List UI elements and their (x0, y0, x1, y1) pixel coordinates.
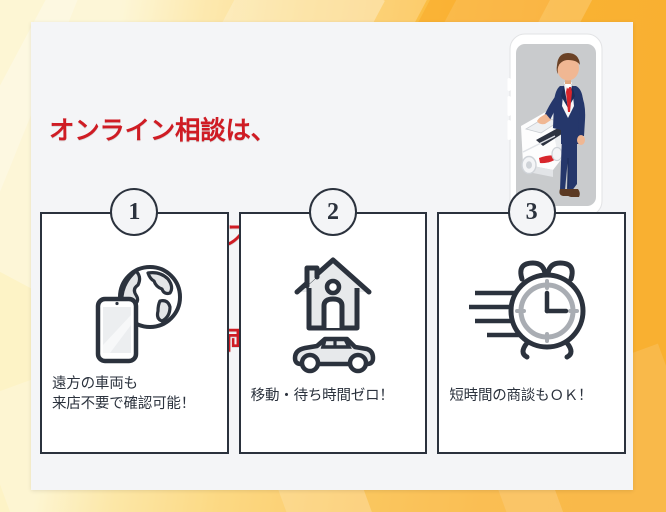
card-number-badge-2: 2 (309, 188, 357, 236)
house-car-icon (241, 250, 426, 370)
card-number-badge-1: 1 (110, 188, 158, 236)
feature-cards: 1 遠方の車両も 来店不要で確認可能！ (40, 212, 626, 454)
promo-banner: オンライン相談は、 経験知識豊富なスタッフが ビデオ通話で車両をご案内！ (0, 0, 666, 512)
feature-card-2[interactable]: 2 (239, 212, 428, 454)
card-caption-3: 短時間の商談もＯＫ！ (449, 387, 618, 407)
headline-line-1: オンライン相談は、 (49, 114, 377, 149)
feature-card-3[interactable]: 3 (437, 212, 626, 454)
fast-alarm-clock-icon (439, 250, 624, 370)
card-caption-2: 移動・待ち時間ゼロ！ (251, 387, 420, 407)
smartphone-globe-icon (42, 250, 227, 370)
content-panel: オンライン相談は、 経験知識豊富なスタッフが ビデオ通話で車両をご案内！ (31, 22, 633, 490)
feature-card-1[interactable]: 1 遠方の車両も 来店不要で確認可能！ (40, 212, 229, 454)
card-caption-1: 遠方の車両も 来店不要で確認可能！ (52, 375, 221, 414)
card-number-badge-3: 3 (508, 188, 556, 236)
